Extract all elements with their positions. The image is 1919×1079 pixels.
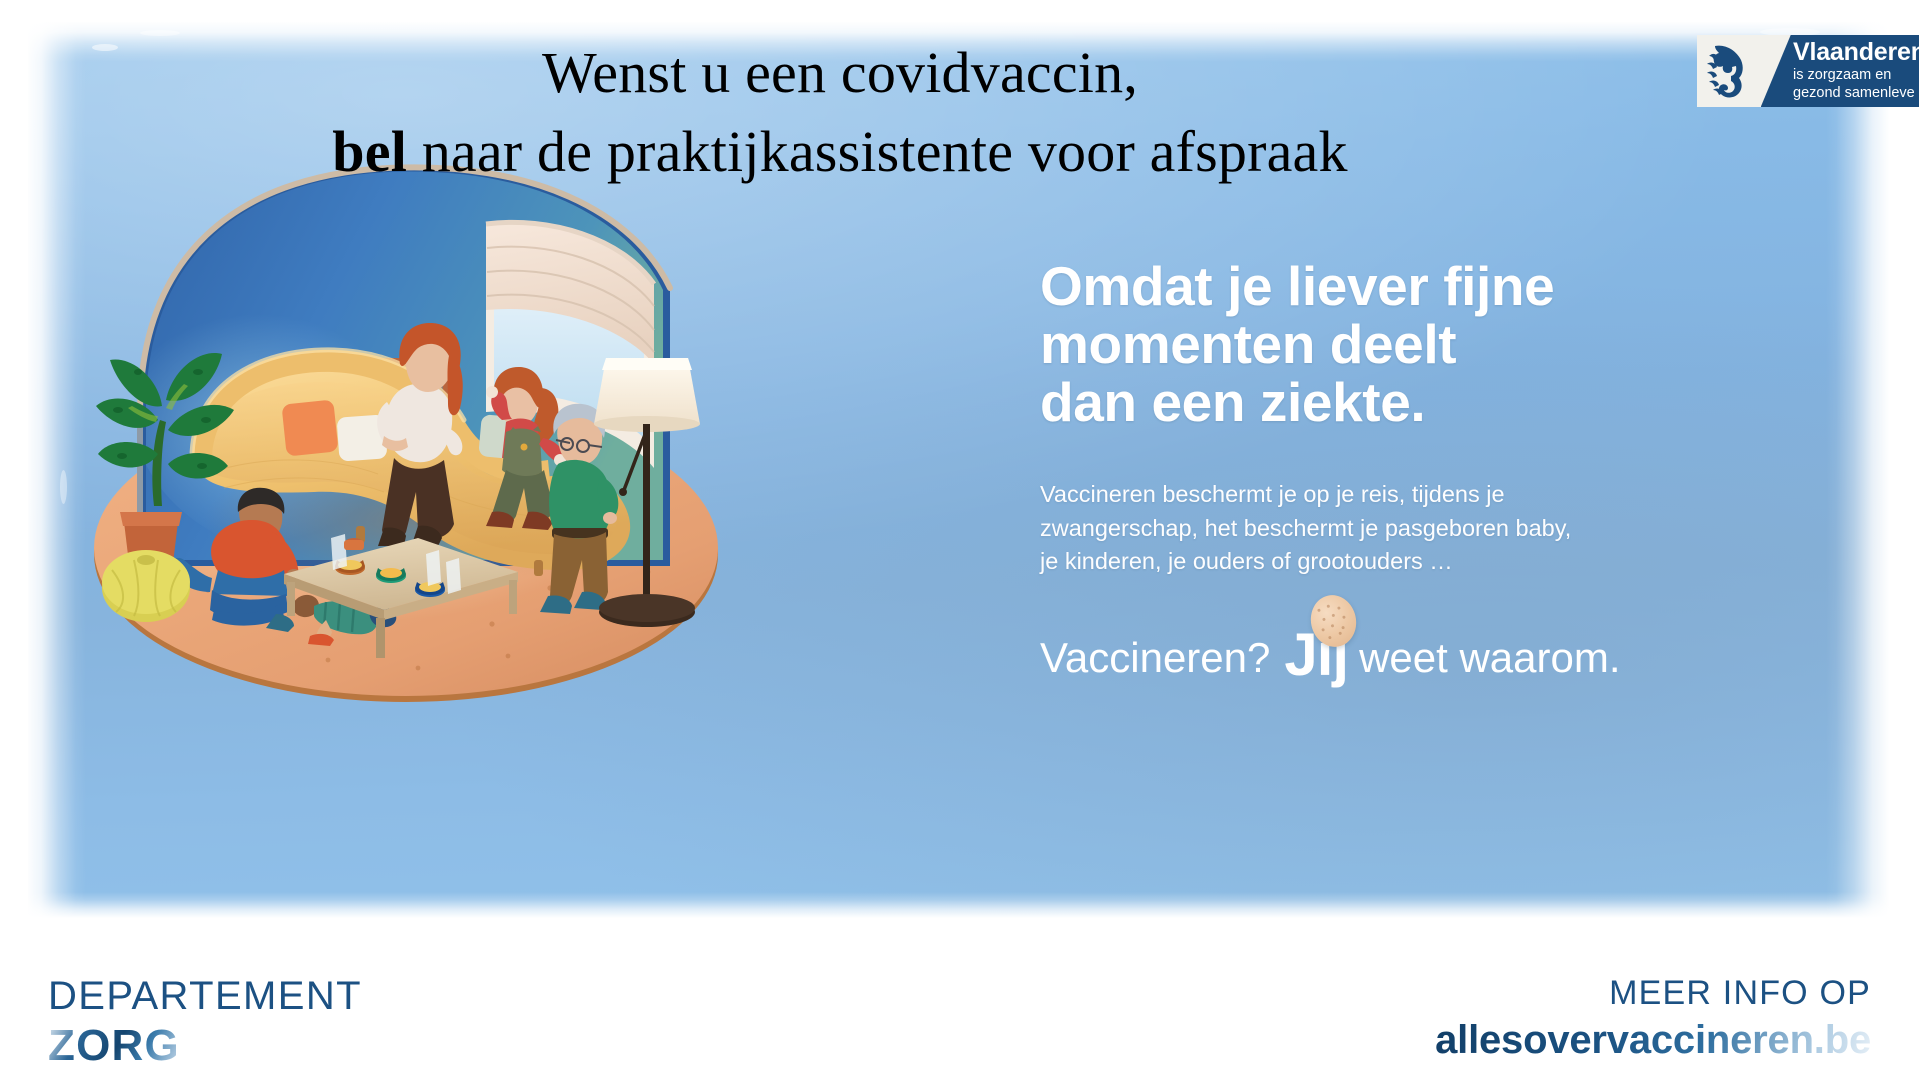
more-info-block: MEER INFO OP allesovervaccineren.be: [1435, 976, 1871, 1060]
tagline-question: Vaccineren?: [1040, 634, 1270, 682]
message-heading-line-3: dan een ziekte.: [1040, 374, 1740, 432]
message-heading: Omdat je liever fijne momenten deelt dan…: [1040, 258, 1740, 431]
logo-text: Vlaanderen is zorgzaam en gezond samenle…: [1791, 35, 1919, 107]
message-heading-line-1: Omdat je liever fijne: [1040, 258, 1740, 316]
headline-line-2: bel naar de praktijkassistente voor afsp…: [130, 113, 1550, 190]
logo-tagline-line-1: is zorgzaam en: [1793, 67, 1919, 84]
message-block: Omdat je liever fijne momenten deelt dan…: [1040, 258, 1740, 682]
message-body: Vaccineren beschermt je op je reis, tijd…: [1040, 478, 1740, 579]
vlaanderen-logo: Vlaanderen is zorgzaam en gezond samenle…: [1697, 35, 1919, 107]
page-title: Wenst u een covidvaccin, bel naar de pra…: [130, 34, 1550, 190]
headline-line-1: Wenst u een covidvaccin,: [542, 40, 1138, 105]
logo-tagline-line-2: gezond samenleve: [1793, 85, 1919, 102]
website-url[interactable]: allesovervaccineren.be: [1435, 1020, 1871, 1060]
department-line-2: ZORG: [48, 1024, 180, 1068]
campaign-tagline: Vaccineren? Jij weet waarom.: [1040, 629, 1740, 682]
living-room-illustration: [88, 120, 728, 710]
tagline-suffix: weet waarom.: [1359, 634, 1620, 682]
tagline-brand-word: Jij: [1284, 629, 1348, 682]
headline-line-2-rest: naar de praktijkassistente voor afspraak: [407, 119, 1348, 184]
message-body-line-2: zwangerschap, het beschermt je pasgebore…: [1040, 512, 1740, 546]
logo-name: Vlaanderen: [1793, 40, 1919, 66]
footer: DEPARTEMENT ZORG MEER INFO OP allesoverv…: [0, 920, 1919, 1079]
headline-emphasis: bel: [332, 119, 407, 184]
department-line-1: DEPARTEMENT: [48, 976, 362, 1016]
poster-canvas: Wenst u een covidvaccin, bel naar de pra…: [0, 0, 1919, 1079]
logo-wedge: [1761, 35, 1791, 107]
message-body-line-1: Vaccineren beschermt je op je reis, tijd…: [1040, 478, 1740, 512]
message-body-line-3: je kinderen, je ouders of grootouders …: [1040, 545, 1740, 579]
edge-speck: [60, 470, 67, 504]
message-heading-line-2: momenten deelt: [1040, 316, 1740, 374]
edge-speck: [92, 44, 118, 51]
more-info-label: MEER INFO OP: [1435, 976, 1871, 1010]
flanders-lion-icon: [1697, 35, 1761, 107]
department-logo: DEPARTEMENT ZORG: [48, 976, 362, 1068]
